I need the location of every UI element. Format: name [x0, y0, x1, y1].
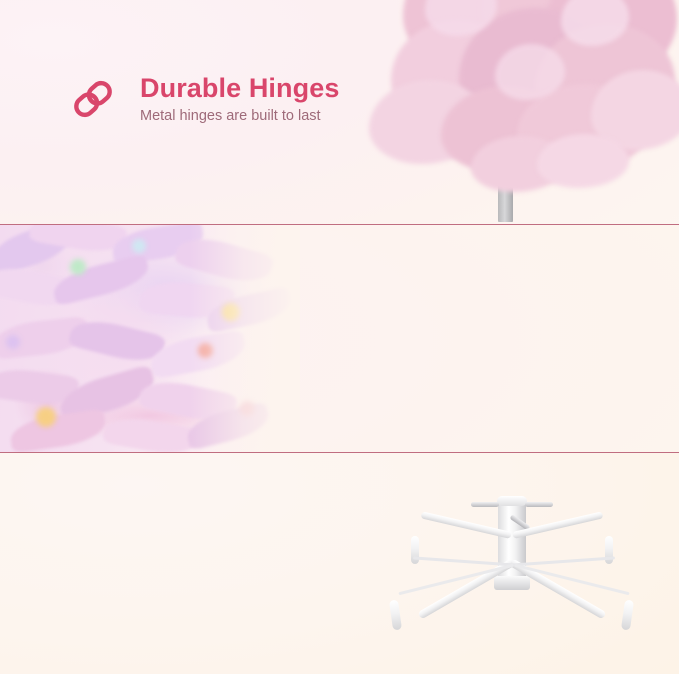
led-light	[70, 259, 86, 275]
feature-panel-branches: PVC Branches Realistic, Flame-retardant …	[0, 225, 679, 452]
led-light	[36, 407, 56, 427]
stand-foot	[411, 536, 419, 564]
stand-post-cap	[497, 496, 527, 506]
stand-thumb-screw	[471, 502, 499, 507]
image-branch-closeup	[0, 225, 300, 452]
feature-panel-base: Sturdy Base Strong, stable stand	[0, 453, 679, 674]
stand-support-wire	[514, 564, 629, 595]
stand-post-collar	[494, 576, 530, 590]
image-edge-fade	[190, 225, 300, 452]
feature-sheet: Durable Hinges Metal hinges are built to…	[0, 0, 679, 674]
image-pink-christmas-tree	[385, 0, 679, 224]
image-tree-stand	[367, 478, 667, 664]
feature-text-hinges: Durable Hinges Metal hinges are built to…	[140, 73, 339, 126]
led-light	[132, 239, 146, 253]
led-light	[6, 335, 20, 349]
feature-subtitle-hinges: Metal hinges are built to last	[140, 108, 339, 125]
divider-top	[0, 224, 679, 225]
stand-foot	[621, 600, 634, 631]
stand-foot	[389, 600, 402, 631]
divider-bottom	[0, 452, 679, 453]
feature-title-hinges: Durable Hinges	[140, 73, 339, 103]
feature-block-hinges: Durable Hinges Metal hinges are built to…	[66, 72, 339, 126]
stand-thumb-screw	[525, 502, 553, 507]
feature-panel-hinges: Durable Hinges Metal hinges are built to…	[0, 0, 679, 224]
stand-support-wire	[511, 556, 615, 566]
chain-link-icon	[66, 72, 120, 126]
